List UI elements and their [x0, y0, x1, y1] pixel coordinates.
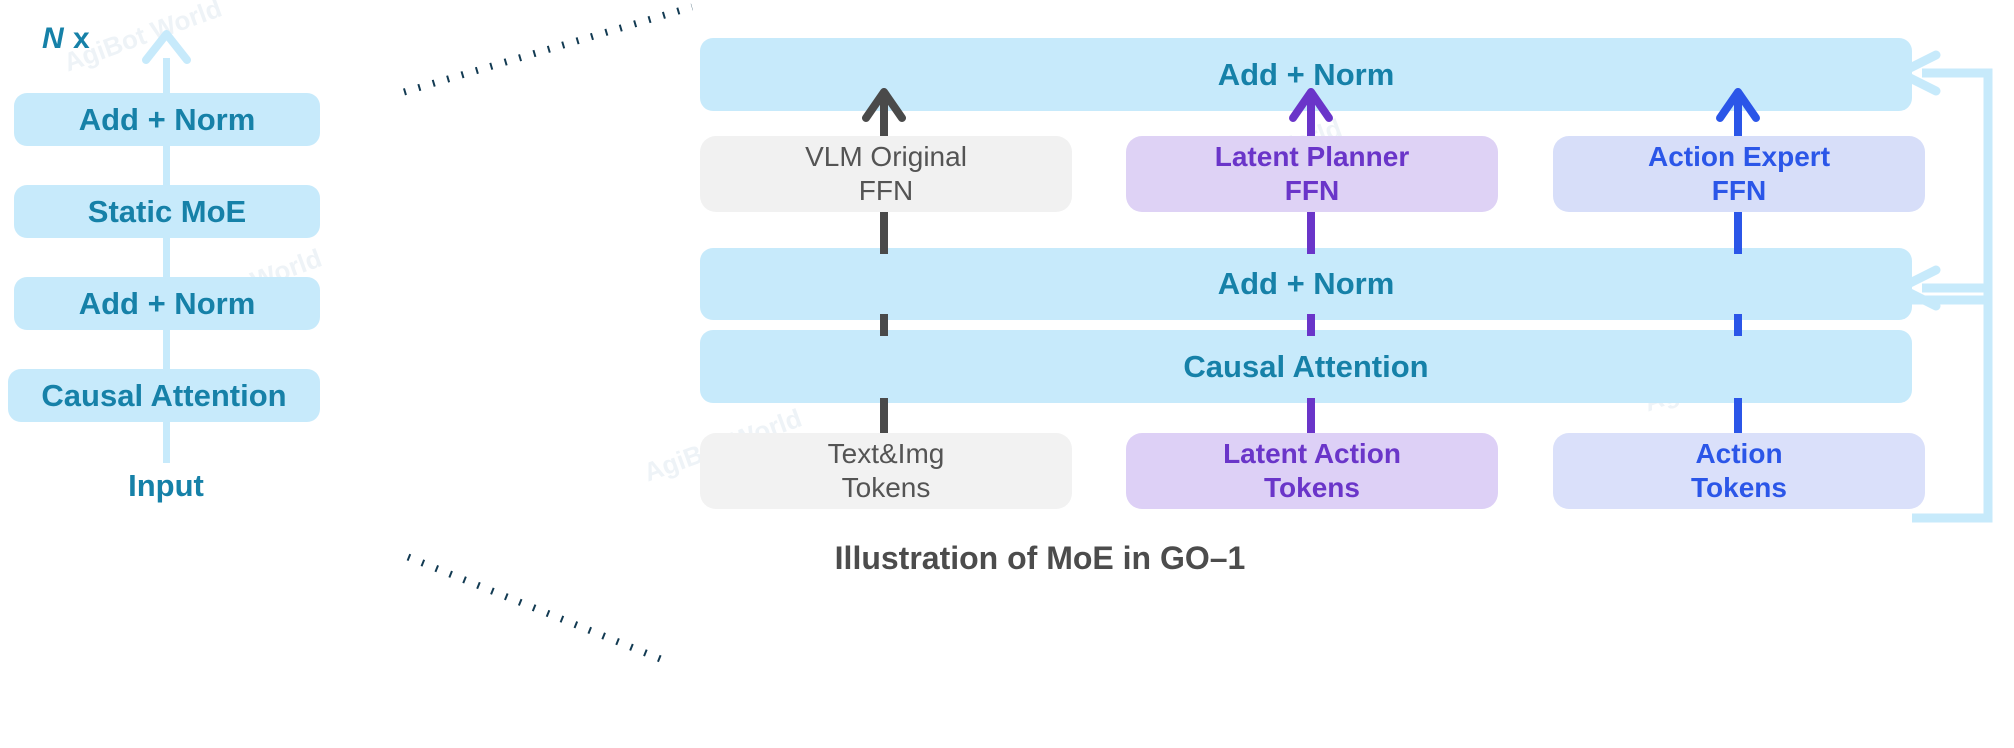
connector-latent-ffn-to-midband	[1307, 212, 1315, 254]
right-band-causal-attention[interactable]: Causal Attention	[700, 330, 1912, 403]
input-label: Input	[16, 468, 316, 504]
left-block-static-moe[interactable]: Static MoE	[14, 185, 320, 238]
expert-box-action-expert-ffn[interactable]: Action Expert FFN	[1553, 136, 1925, 212]
left-spine-seg-1	[163, 145, 170, 187]
right-band-add-norm-top[interactable]: Add + Norm	[700, 38, 1912, 111]
connector-attention-to-action-tokens	[1734, 398, 1742, 434]
connector-attention-to-latent-tokens	[1307, 398, 1315, 434]
figure-canvas: AgiBot World AgiBot World AgiBot World A…	[0, 0, 2014, 748]
token-box-action-tokens[interactable]: Action Tokens	[1553, 433, 1925, 509]
left-block-causal-attention[interactable]: Causal Attention	[8, 369, 320, 422]
left-spine-seg-2	[163, 237, 170, 279]
left-block-add-norm-bottom[interactable]: Add + Norm	[14, 277, 320, 330]
right-band-add-norm-mid[interactable]: Add + Norm	[700, 248, 1912, 320]
token-box-latent-action-tokens[interactable]: Latent Action Tokens	[1126, 433, 1498, 509]
expert-box-vlm-original-ffn[interactable]: VLM Original FFN	[700, 136, 1072, 212]
token-box-text-img-tokens[interactable]: Text&Img Tokens	[700, 433, 1072, 509]
connector-vlm-ffn-to-midband	[880, 212, 888, 254]
repeat-count-label: N x	[42, 22, 90, 56]
callout-line-top	[404, 7, 692, 92]
connector-attention-to-text-tokens	[880, 398, 888, 434]
connector-midband-to-attention-blue	[1734, 314, 1742, 336]
left-spine-bottom	[163, 421, 170, 463]
repeat-count-x: x	[64, 22, 90, 55]
callout-line-bottom	[408, 557, 668, 662]
connector-midband-to-attention-purple	[1307, 314, 1315, 336]
connector-action-ffn-to-midband	[1734, 212, 1742, 254]
left-block-add-norm-top[interactable]: Add + Norm	[14, 93, 320, 146]
expert-box-latent-planner-ffn[interactable]: Latent Planner FFN	[1126, 136, 1498, 212]
left-spine-seg-3	[163, 329, 170, 371]
figure-caption: Illustration of MoE in GO–1	[660, 540, 1420, 577]
repeat-count-n: N	[42, 22, 64, 55]
connector-midband-to-attention-gray	[880, 314, 888, 336]
